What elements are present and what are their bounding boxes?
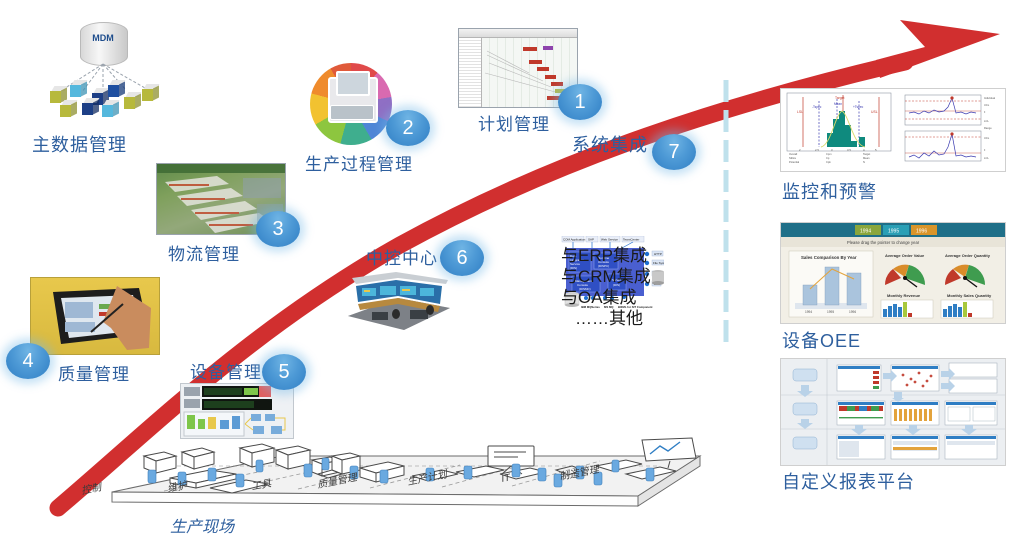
integration-line-4: ……其他: [561, 308, 651, 329]
svg-text:LCL: LCL: [984, 119, 989, 123]
svg-text:StDev: StDev: [789, 156, 797, 160]
module-icon-process: [310, 63, 392, 145]
integration-line-3: 与OA集成: [561, 287, 651, 308]
svg-text:Target: Target: [863, 152, 870, 156]
integration-title: 系统集成: [572, 131, 648, 157]
svg-text:Cp: Cp: [826, 156, 830, 160]
svg-text:N: N: [863, 160, 865, 164]
svg-text:Average Order Value: Average Order Value: [885, 253, 925, 258]
svg-text:Please drag the pointer to cha: Please drag the pointer to change year: [847, 240, 920, 245]
module-badge-plan[interactable]: 1: [558, 84, 602, 120]
module-icon-control: [338, 270, 456, 332]
svg-text:1995: 1995: [827, 310, 834, 314]
svg-text:Mean: Mean: [863, 156, 870, 160]
svg-text:LSL: LSL: [797, 110, 803, 114]
shopfloor-caption: 生产现场: [170, 513, 234, 537]
svg-text:UCL: UCL: [984, 136, 990, 140]
svg-text:COM Application: COM Application: [563, 237, 586, 241]
integration-text-list: 与ERP集成 与CRM集成 与OA集成 ……其他: [561, 245, 651, 329]
svg-text:2.5: 2.5: [815, 148, 819, 152]
module-label-plan: 计划管理: [478, 110, 550, 135]
svg-text:USL: USL: [871, 110, 878, 114]
integration-line-1: 与ERP集成: [561, 245, 651, 266]
panel-label-oee: 设备OEE: [782, 327, 861, 353]
module-badge-logistics[interactable]: 3: [256, 211, 300, 247]
module-label-mdm: 主数据管理: [32, 131, 127, 157]
svg-text:File System: File System: [653, 261, 664, 265]
module-icon-quality: [30, 277, 160, 355]
mes-architecture-diagram: MDM 主数据管理: [0, 0, 1012, 547]
svg-text:Range: Range: [984, 126, 992, 130]
svg-text:1996: 1996: [849, 310, 856, 314]
module-label-quality: 质量管理: [58, 360, 130, 385]
svg-text:Target: Target: [835, 96, 844, 100]
svg-text:Sales Comparison By Year: Sales Comparison By Year: [801, 255, 857, 260]
svg-text:1994: 1994: [805, 310, 812, 314]
module-label-logistics: 物流管理: [168, 240, 240, 265]
svg-text:HTTP: HTTP: [654, 252, 662, 256]
svg-text:3.5: 3.5: [847, 148, 851, 152]
svg-text:-Tspec: -Tspec: [812, 105, 822, 109]
svg-text:Monthly Sales Quantity: Monthly Sales Quantity: [947, 293, 992, 298]
integration-badge[interactable]: 7: [652, 134, 696, 170]
svg-text:Overall: Overall: [789, 152, 798, 156]
svg-text:Mean: Mean: [834, 102, 842, 106]
svg-text:Web Service: Web Service: [601, 237, 618, 241]
integration-line-2: 与CRM集成: [561, 266, 651, 287]
svg-text:Cpm: Cpm: [826, 152, 831, 156]
svg-text:1995: 1995: [888, 229, 899, 235]
svg-text:1996: 1996: [916, 229, 927, 235]
panel-icon-report: [780, 358, 1006, 466]
panel-icon-oee: 1994 1995 1996 Please drag the pointer t…: [780, 222, 1006, 324]
svg-text:Potential: Potential: [789, 160, 800, 164]
svg-text:TeamCenter: TeamCenter: [623, 237, 639, 241]
svg-text:Cpk: Cpk: [826, 160, 831, 164]
module-icon-mdm: MDM: [30, 22, 180, 127]
panel-label-monitor: 监控和预警: [782, 178, 877, 204]
section-divider: [718, 80, 734, 350]
floor-zone-1: 控制: [80, 481, 104, 497]
module-label-equipment: 设备管理: [190, 358, 262, 383]
module-badge-equipment[interactable]: 5: [262, 354, 306, 390]
svg-text:LCL: LCL: [984, 156, 989, 160]
svg-text:+Tspec: +Tspec: [853, 105, 864, 109]
svg-text:Individual: Individual: [984, 96, 995, 100]
svg-text:Average Order Quantity: Average Order Quantity: [945, 253, 991, 258]
shopfloor-platform: 控制 维护 工具 质量管理 生产计划 IT 制造管理: [60, 430, 720, 530]
svg-text:SAP: SAP: [588, 237, 594, 241]
panel-label-report: 自定义报表平台: [782, 468, 915, 494]
module-label-control: 中控中心: [366, 244, 438, 269]
svg-text:1994: 1994: [860, 229, 871, 235]
module-badge-quality[interactable]: 4: [6, 343, 50, 379]
module-label-process: 生产过程管理: [305, 150, 413, 175]
svg-text:UCL: UCL: [984, 103, 990, 107]
panel-icon-monitor: LSLUSLTarget -Tspec+TspecMean OverallStD…: [780, 88, 1006, 172]
svg-text:Monthly Revenue: Monthly Revenue: [887, 293, 921, 298]
module-badge-process[interactable]: 2: [386, 110, 430, 146]
module-badge-control[interactable]: 6: [440, 240, 484, 276]
